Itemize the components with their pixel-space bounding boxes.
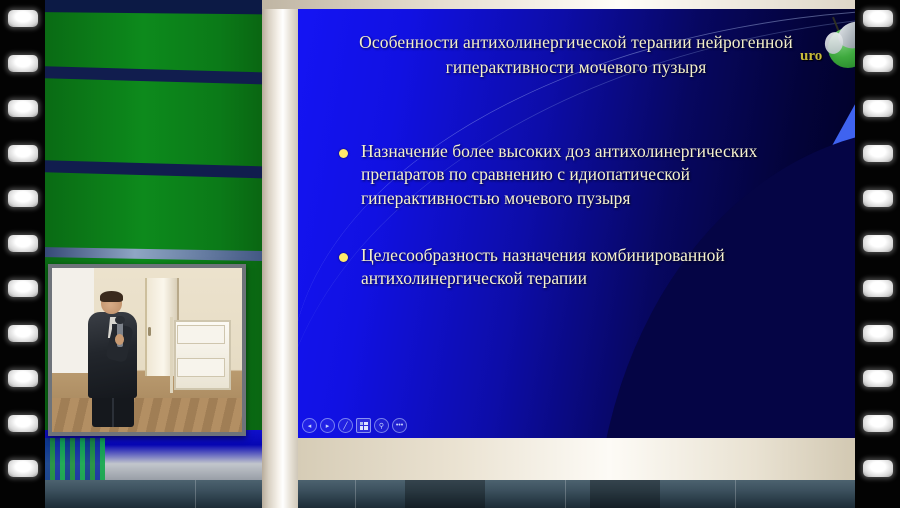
filmstrip-sprocket-hole: [8, 325, 38, 342]
desk-pixel-strip: [45, 438, 105, 484]
panel-divider: [262, 0, 298, 508]
video-player-stage: Особенности антихолинергической терапии …: [0, 0, 900, 508]
presentation-slide[interactable]: Особенности антихолинергической терапии …: [297, 8, 855, 438]
room-floor: [52, 398, 242, 432]
logo-uro-text: uro: [800, 48, 822, 65]
band-seam: [565, 480, 566, 508]
grid-glyph: [360, 422, 368, 430]
filmstrip-sprocket-hole: [863, 190, 893, 207]
slide-title-line1: Особенности антихолинергической терапии …: [325, 30, 827, 55]
radiator-slot: [177, 358, 225, 376]
list-item: Назначение более высоких доз антихолинер…: [339, 140, 771, 210]
filmstrip-sprocket-hole: [863, 370, 893, 387]
filmstrip-sprocket-hole: [8, 415, 38, 432]
microphone-head: [115, 316, 125, 324]
band-seam: [355, 480, 356, 508]
zoom-icon[interactable]: ⚲: [374, 418, 389, 433]
filmstrip-sprocket-hole: [863, 100, 893, 117]
filmstrip-sprocket-hole: [8, 10, 38, 27]
filmstrip-sprocket-hole: [863, 55, 893, 72]
backdrop-band: [45, 0, 263, 15]
bullet-dot-icon: [339, 149, 348, 158]
backdrop-band: [45, 66, 263, 85]
filmstrip-sprocket-hole: [8, 370, 38, 387]
band-seam: [195, 480, 196, 508]
pen-icon[interactable]: ╱: [338, 418, 353, 433]
slide-title-line2: гиперактивности мочевого пузыря: [325, 55, 827, 80]
speaker-video-thumbnail[interactable]: [48, 264, 246, 436]
band-shadow: [590, 480, 660, 508]
previous-slide-icon[interactable]: ◂: [302, 418, 317, 433]
filmstrip-sprocket-hole: [863, 415, 893, 432]
filmstrip-sprocket-hole: [8, 460, 38, 477]
slide-title: Особенности антихолинергической терапии …: [325, 30, 827, 80]
filmstrip-sprocket-hole: [8, 145, 38, 162]
speaker-video-frame: [52, 268, 242, 432]
under-slide-cream-band: [297, 438, 855, 480]
bullet-text: Целесообразность назначения комбинирован…: [361, 244, 771, 291]
next-slide-icon[interactable]: ▸: [320, 418, 335, 433]
filmstrip-left: [0, 0, 45, 508]
door-knob: [148, 327, 151, 336]
filmstrip-sprocket-hole: [8, 100, 38, 117]
filmstrip-sprocket-hole: [863, 145, 893, 162]
bottom-dark-band: [45, 480, 855, 508]
studio-green-backdrop: [45, 0, 263, 268]
backdrop-band: [45, 247, 263, 261]
filmstrip-sprocket-hole: [8, 190, 38, 207]
filmstrip-sprocket-hole: [8, 235, 38, 252]
band-shadow: [405, 480, 485, 508]
slides-grid-icon[interactable]: [356, 418, 371, 433]
list-item: Целесообразность назначения комбинирован…: [339, 244, 771, 291]
bullet-text: Назначение более высоких доз антихолинер…: [361, 140, 771, 210]
radiator-slot: [177, 325, 225, 343]
filmstrip-sprocket-hole: [863, 235, 893, 252]
radiator-bar: [170, 317, 173, 392]
band-seam: [735, 480, 736, 508]
more-options-icon[interactable]: •••: [392, 418, 407, 433]
filmstrip-sprocket-hole: [863, 280, 893, 297]
filmstrip-sprocket-hole: [8, 280, 38, 297]
speaker-leg-split: [112, 396, 114, 427]
slide-bullet-list: Назначение более высоких доз антихолинер…: [339, 140, 771, 324]
filmstrip-sprocket-hole: [863, 10, 893, 27]
filmstrip-right: [855, 0, 900, 508]
filmstrip-sprocket-hole: [863, 460, 893, 477]
bullet-dot-icon: [339, 253, 348, 262]
filmstrip-sprocket-hole: [863, 325, 893, 342]
speaker-hair: [100, 291, 123, 302]
slide-player-toolbar[interactable]: ◂ ▸ ╱ ⚲ •••: [302, 418, 407, 433]
top-cream-band: [262, 0, 855, 9]
backdrop-band: [45, 160, 263, 179]
filmstrip-sprocket-hole: [8, 55, 38, 72]
